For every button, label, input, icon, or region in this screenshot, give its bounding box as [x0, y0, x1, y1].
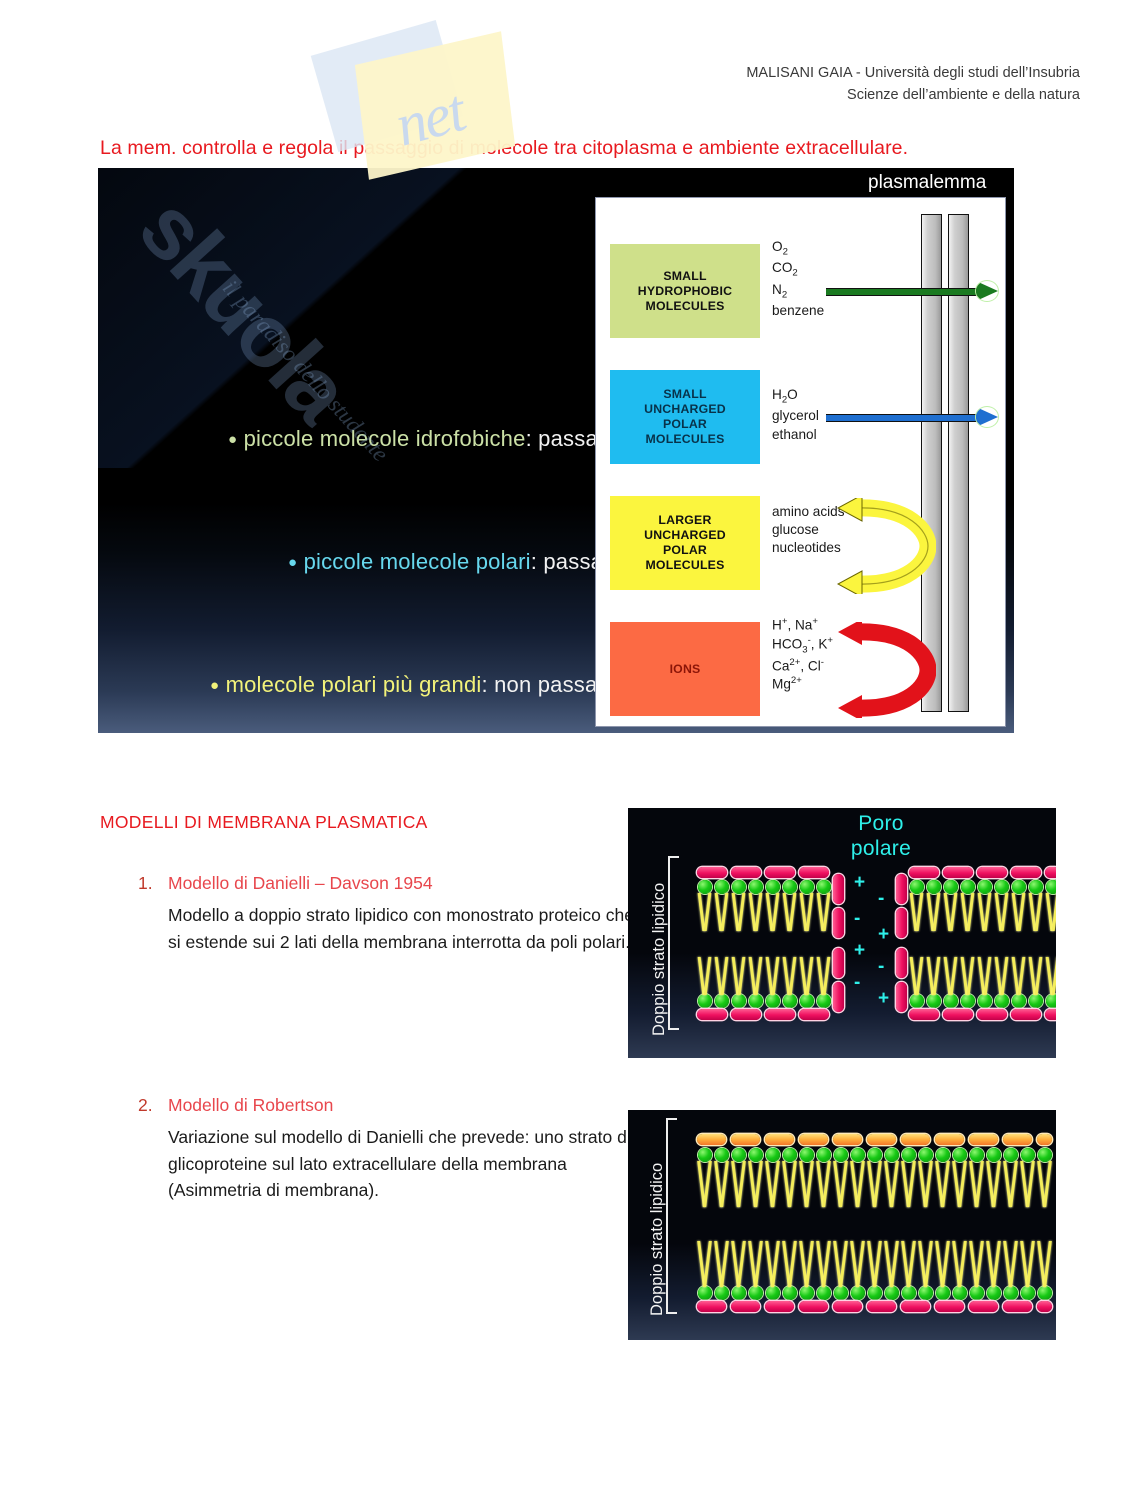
lipid-tail: [698, 957, 712, 995]
glycoprotein-layer: [1037, 1134, 1052, 1145]
lipid-head: [936, 1286, 950, 1300]
bullet-small-polar: ● piccole molecole polari: passano: [288, 549, 628, 575]
lipid-tail: [927, 893, 941, 931]
item-body: Variazione sul modello di Danielli che p…: [168, 1124, 638, 1204]
pore-protein: [833, 948, 844, 978]
surface-protein-bottom: [969, 1301, 998, 1312]
surface-protein-top: [697, 867, 727, 878]
lipid-head: [1021, 1286, 1035, 1300]
lipid-tail: [944, 893, 958, 931]
lipid-head: [936, 1148, 950, 1162]
lipid-head: [749, 994, 763, 1008]
glycoprotein-layer: [935, 1134, 964, 1145]
lipid-tail: [783, 893, 797, 931]
lipid-head: [1012, 880, 1026, 894]
lipid-head: [783, 994, 797, 1008]
surface-protein-bottom: [765, 1009, 795, 1020]
lipid-tail: [970, 1161, 984, 1207]
lipid-head: [1046, 880, 1056, 894]
lipid-head: [1038, 1148, 1052, 1162]
lipid-head: [851, 1148, 865, 1162]
pore-protein: [833, 982, 844, 1012]
pore-charge: +: [854, 940, 865, 962]
lipid-tail: [927, 957, 941, 995]
lipid-head: [800, 994, 814, 1008]
lipid-tail: [910, 957, 924, 995]
lipid-tail: [995, 957, 1009, 995]
pore-charge: -: [878, 888, 884, 910]
lipid-head: [749, 1286, 763, 1300]
item-title: Modello di Robertson: [168, 1095, 333, 1116]
lipid-tail: [851, 1241, 865, 1287]
pore-charge: +: [854, 872, 865, 894]
examples-ions: H+, Na+HCO3-, K+Ca2+, Cl-Mg2+: [772, 616, 833, 694]
surface-protein-top: [1011, 867, 1041, 878]
lipid-head: [885, 1286, 899, 1300]
lipid-tail: [766, 1241, 780, 1287]
lipid-tail: [1021, 1161, 1035, 1207]
lipid-tail: [1004, 1161, 1018, 1207]
slide-diagonal-shade: [98, 168, 518, 468]
surface-protein-top: [1045, 867, 1056, 878]
lipid-head: [698, 1148, 712, 1162]
lipid-head: [961, 994, 975, 1008]
lipid-tail: [1038, 1161, 1052, 1207]
lipid-head: [800, 1286, 814, 1300]
surface-protein-bottom: [909, 1009, 939, 1020]
bullet-large-polar: ● molecole polari più grandi: non passan…: [210, 672, 622, 698]
lipid-head: [732, 994, 746, 1008]
lipid-tail: [1029, 893, 1043, 931]
lipid-tail: [987, 1161, 1001, 1207]
pore-charge: -: [854, 972, 860, 994]
lipid-tail: [1046, 957, 1056, 995]
lipid-head: [783, 1148, 797, 1162]
lipid-head: [927, 880, 941, 894]
surface-protein-bottom: [697, 1301, 726, 1312]
surface-protein-top: [909, 867, 939, 878]
category-box-larger-polar: LARGERUNCHARGEDPOLARMOLECULES: [610, 496, 760, 590]
lipid-head: [902, 1148, 916, 1162]
surface-protein-bottom: [799, 1301, 828, 1312]
pore-protein: [896, 874, 907, 904]
lipid-head: [987, 1286, 1001, 1300]
lipid-tail: [936, 1241, 950, 1287]
lipid-head: [995, 880, 1009, 894]
lipid-head: [970, 1148, 984, 1162]
lipid-tail: [817, 1161, 831, 1207]
bullet-hydrophobic: ● piccole molecole idrofobiche: passano: [228, 426, 623, 452]
lipid-head: [1012, 994, 1026, 1008]
lipid-head: [1021, 1148, 1035, 1162]
lipid-tail: [817, 957, 831, 995]
header-line-author: MALISANI GAIA - Università degli studi d…: [746, 62, 1080, 84]
lipid-tail: [944, 957, 958, 995]
lipid-head: [715, 994, 729, 1008]
item-body: Modello a doppio strato lipidico con mon…: [168, 902, 638, 955]
lipid-tail: [978, 957, 992, 995]
lipid-head: [1046, 994, 1056, 1008]
lipid-head: [766, 1148, 780, 1162]
arrow-yellow-blocked: [832, 498, 936, 594]
pore-charge: -: [854, 908, 860, 930]
lipid-head: [834, 1148, 848, 1162]
lipid-head: [698, 880, 712, 894]
surface-protein-bottom: [1045, 1009, 1056, 1020]
glycoprotein-layer: [765, 1134, 794, 1145]
lipid-head: [927, 994, 941, 1008]
pore-charge: +: [878, 988, 889, 1010]
lipid-head: [944, 880, 958, 894]
lipid-tail: [1021, 1241, 1035, 1287]
lipid-tail: [919, 1161, 933, 1207]
lipid-head: [766, 994, 780, 1008]
lipid-tail: [783, 1241, 797, 1287]
lipid-tail: [868, 1241, 882, 1287]
lipid-head: [919, 1286, 933, 1300]
lipid-tail: [698, 1161, 712, 1207]
lipid-tail: [919, 1241, 933, 1287]
lipid-tail: [800, 1241, 814, 1287]
pore-protein: [896, 982, 907, 1012]
glycoprotein-layer: [697, 1134, 726, 1145]
lipid-tail: [732, 1241, 746, 1287]
lipid-head: [766, 1286, 780, 1300]
lipid-tail: [749, 1241, 763, 1287]
lipid-tail: [1046, 893, 1056, 931]
surface-protein-bottom: [731, 1009, 761, 1020]
watermark-blue-shape: [311, 20, 464, 152]
lipid-tail: [732, 1161, 746, 1207]
lipid-tail: [953, 1241, 967, 1287]
lipid-tail: [953, 1161, 967, 1207]
lipid-head: [817, 1286, 831, 1300]
category-box-hydrophobic: SMALLHYDROPHOBICMOLECULES: [610, 244, 760, 338]
surface-protein-top: [765, 867, 795, 878]
lipid-head: [868, 1286, 882, 1300]
item-number: 1.: [138, 873, 153, 894]
lipid-head: [1029, 994, 1043, 1008]
lipid-head: [944, 994, 958, 1008]
lipid-head: [910, 994, 924, 1008]
lipid-tail: [698, 893, 712, 931]
lipid-tail: [783, 957, 797, 995]
lipid-tail: [834, 1241, 848, 1287]
surface-protein-top: [731, 867, 761, 878]
pore-charge: -: [878, 956, 884, 978]
lipid-tail: [783, 1161, 797, 1207]
permeability-panel: SMALLHYDROPHOBICMOLECULES O2CO2N2benzene…: [595, 197, 1006, 727]
lipid-tail: [817, 1241, 831, 1287]
arrow-red-blocked: [832, 622, 936, 718]
lipid-tail: [1012, 957, 1026, 995]
lipid-tail: [1038, 1241, 1052, 1287]
examples-small-polar: H2Oglycerolethanol: [772, 386, 819, 444]
document-header: MALISANI GAIA - Università degli studi d…: [746, 62, 1080, 107]
bilayer-bracket: [666, 1118, 677, 1314]
pore-protein: [896, 948, 907, 978]
lipid-head: [698, 1286, 712, 1300]
surface-protein-bottom: [943, 1009, 973, 1020]
lipid-tail: [749, 957, 763, 995]
lipid-tail: [766, 1161, 780, 1207]
examples-hydrophobic: O2CO2N2benzene: [772, 238, 824, 320]
lipid-head: [1029, 880, 1043, 894]
robertson-model-figure: Doppio strato lipidico: [628, 1110, 1056, 1340]
lipid-head: [817, 1148, 831, 1162]
lipid-tail: [995, 893, 1009, 931]
lipid-tail: [851, 1161, 865, 1207]
lipid-head: [978, 994, 992, 1008]
lipid-tail: [970, 1241, 984, 1287]
lipid-head: [961, 880, 975, 894]
lipid-head: [732, 1148, 746, 1162]
page-title: La mem. controlla e regola il passaggio …: [100, 137, 908, 160]
danielli-model-figure: Doppio strato lipidico Poropolare +--++-…: [628, 808, 1056, 1058]
surface-protein-bottom: [977, 1009, 1007, 1020]
bilayer-bracket: [668, 856, 679, 1030]
lipid-tail: [732, 893, 746, 931]
plasmalemma-label: plasmalemma: [868, 172, 986, 194]
lipid-head: [970, 1286, 984, 1300]
lipid-tail: [800, 893, 814, 931]
lipid-head: [749, 1148, 763, 1162]
lipid-tail: [766, 957, 780, 995]
bilayer-label: Doppio strato lipidico: [648, 1163, 667, 1316]
lipid-tail: [885, 1241, 899, 1287]
surface-protein-bottom: [1037, 1301, 1052, 1312]
glycoprotein-layer: [867, 1134, 896, 1145]
lipid-tail: [749, 1161, 763, 1207]
pore-protein: [896, 908, 907, 938]
lipid-tail: [715, 1241, 729, 1287]
surface-protein-bottom: [799, 1009, 829, 1020]
lipid-tail: [1029, 957, 1043, 995]
lipid-head: [698, 994, 712, 1008]
lipid-head: [902, 1286, 916, 1300]
lipid-head: [851, 1286, 865, 1300]
lipid-head: [953, 1148, 967, 1162]
lipid-tail: [1004, 1241, 1018, 1287]
category-box-ions: IONS: [610, 622, 760, 716]
lipid-tail: [800, 957, 814, 995]
category-box-small-polar: SMALLUNCHARGEDPOLARMOLECULES: [610, 370, 760, 464]
lipid-tail: [715, 893, 729, 931]
lipid-tail: [749, 893, 763, 931]
lipid-head: [817, 880, 831, 894]
lipid-head: [766, 880, 780, 894]
lipid-head: [910, 880, 924, 894]
surface-protein-bottom: [867, 1301, 896, 1312]
lipid-head: [783, 1286, 797, 1300]
lipid-tail: [885, 1161, 899, 1207]
lipid-head: [732, 880, 746, 894]
glycoprotein-layer: [833, 1134, 862, 1145]
pore-label: Poropolare: [836, 812, 926, 862]
models-section-title: MODELLI DI MEMBRANA PLASMATICA: [100, 812, 428, 833]
lipid-tail: [902, 1161, 916, 1207]
permeability-slide-figure: ● piccole molecole idrofobiche: passano …: [98, 168, 1014, 733]
lipid-head: [978, 880, 992, 894]
lipid-tail: [868, 1161, 882, 1207]
lipid-head: [800, 880, 814, 894]
glycoprotein-layer: [799, 1134, 828, 1145]
glycoprotein-layer: [1003, 1134, 1032, 1145]
lipid-head: [715, 1148, 729, 1162]
lipid-head: [919, 1148, 933, 1162]
lipid-head: [817, 994, 831, 1008]
surface-protein-bottom: [901, 1301, 930, 1312]
arrow-green-permeable: [826, 285, 1006, 298]
lipid-tail: [1012, 893, 1026, 931]
lipid-head: [834, 1286, 848, 1300]
header-line-course: Scienze dell’ambiente e della natura: [746, 84, 1080, 106]
lipid-tail: [715, 1161, 729, 1207]
pore-protein: [833, 908, 844, 938]
lipid-head: [1004, 1148, 1018, 1162]
lipid-tail: [766, 893, 780, 931]
lipid-tail: [834, 1161, 848, 1207]
lipid-tail: [817, 893, 831, 931]
lipid-head: [732, 1286, 746, 1300]
lipid-tail: [910, 893, 924, 931]
pore-charge: +: [878, 924, 889, 946]
lipid-head: [749, 880, 763, 894]
lipid-tail: [961, 957, 975, 995]
lipid-tail: [902, 1241, 916, 1287]
surface-protein-top: [799, 867, 829, 878]
item-title: Modello di Danielli – Davson 1954: [168, 873, 433, 894]
surface-protein-bottom: [833, 1301, 862, 1312]
lipid-head: [783, 880, 797, 894]
surface-protein-top: [943, 867, 973, 878]
surface-protein-bottom: [731, 1301, 760, 1312]
lipid-head: [1038, 1286, 1052, 1300]
lipid-head: [1004, 1286, 1018, 1300]
lipid-tail: [698, 1241, 712, 1287]
lipid-head: [953, 1286, 967, 1300]
lipid-tail: [800, 1161, 814, 1207]
lipid-tail: [978, 893, 992, 931]
lipid-tail: [715, 957, 729, 995]
lipid-head: [715, 1286, 729, 1300]
surface-protein-bottom: [1003, 1301, 1032, 1312]
lipid-head: [868, 1148, 882, 1162]
lipid-tail: [961, 893, 975, 931]
surface-protein-bottom: [765, 1301, 794, 1312]
glycoprotein-layer: [901, 1134, 930, 1145]
lipid-tail: [987, 1241, 1001, 1287]
item-number: 2.: [138, 1095, 153, 1116]
bilayer-label: Doppio strato lipidico: [650, 883, 669, 1036]
glycoprotein-layer: [731, 1134, 760, 1145]
lipid-head: [885, 1148, 899, 1162]
lipid-head: [987, 1148, 1001, 1162]
arrow-blue-permeable: [826, 411, 1006, 424]
pore-protein: [833, 874, 844, 904]
lipid-tail: [936, 1161, 950, 1207]
lipid-head: [715, 880, 729, 894]
surface-protein-bottom: [1011, 1009, 1041, 1020]
lipid-head: [995, 994, 1009, 1008]
surface-protein-top: [977, 867, 1007, 878]
surface-protein-bottom: [935, 1301, 964, 1312]
lipid-head: [800, 1148, 814, 1162]
glycoprotein-layer: [969, 1134, 998, 1145]
surface-protein-bottom: [697, 1009, 727, 1020]
lipid-tail: [732, 957, 746, 995]
